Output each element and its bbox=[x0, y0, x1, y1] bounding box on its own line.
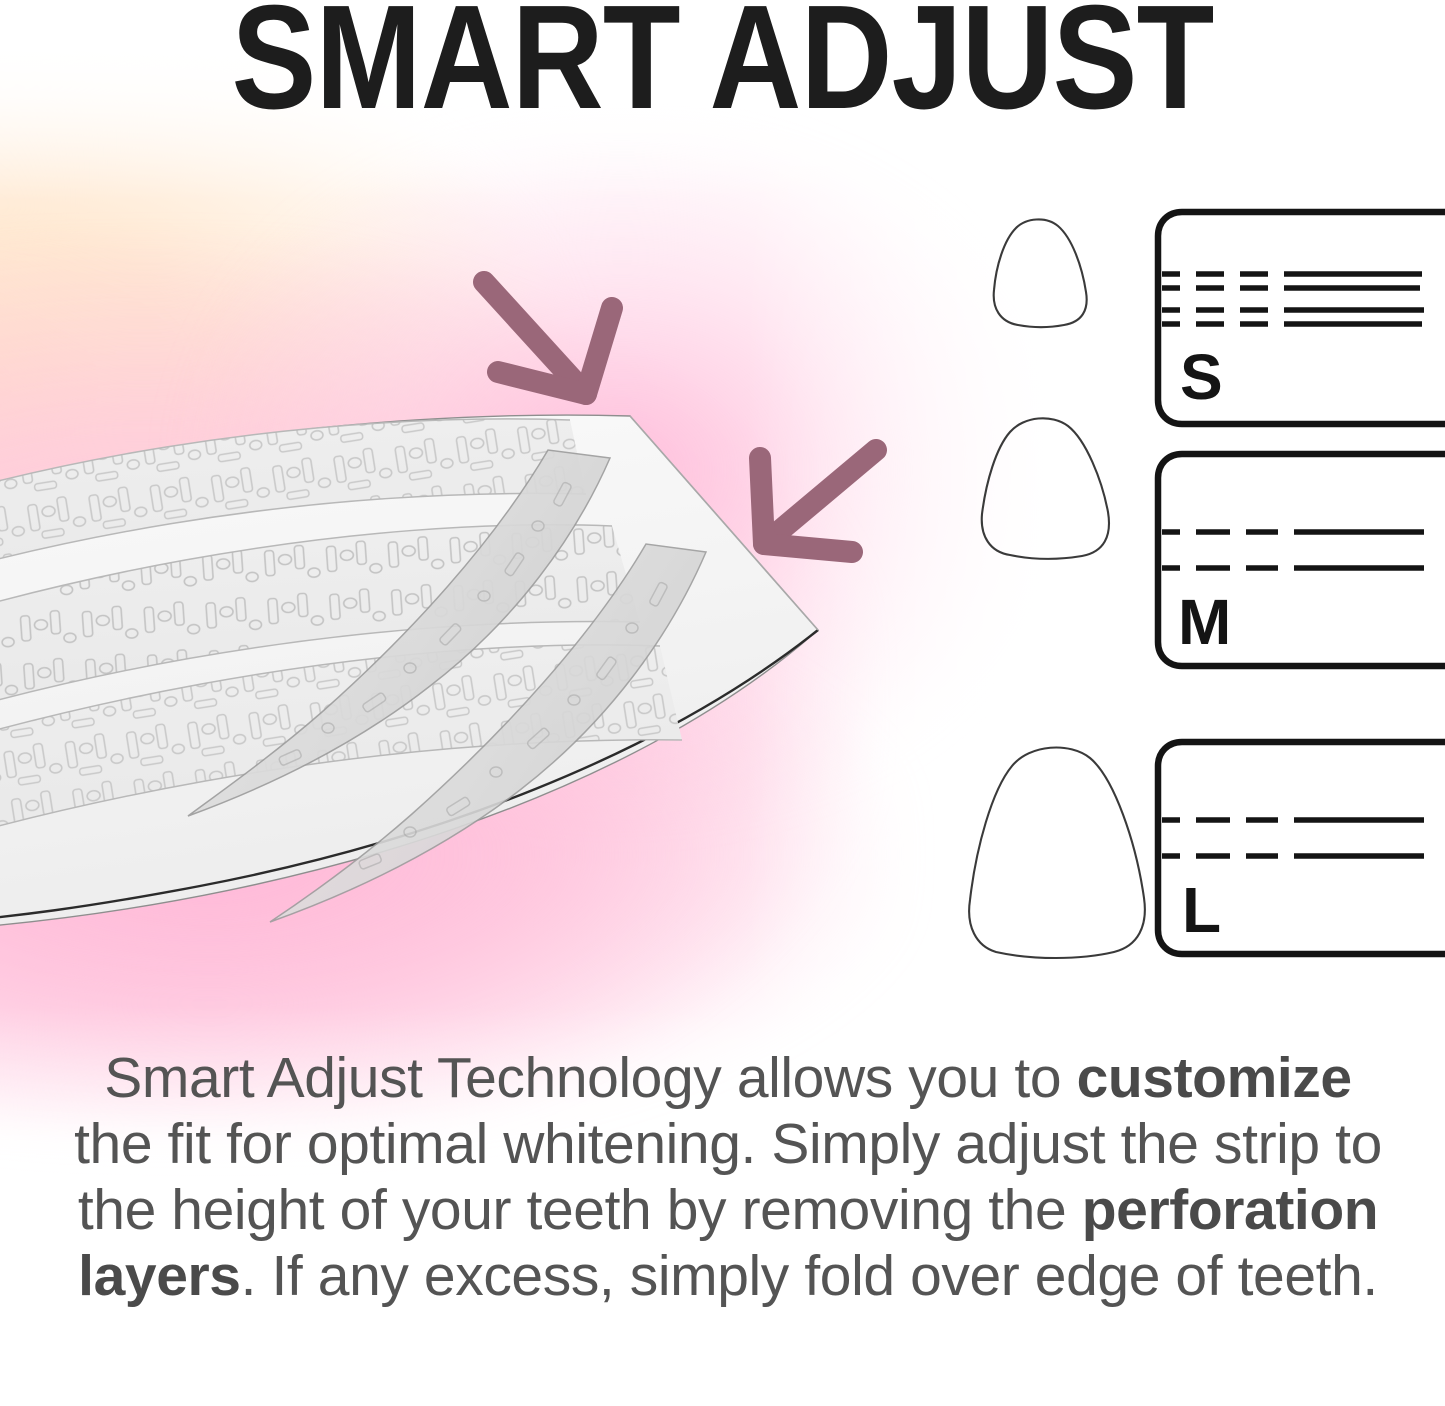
caption-bold-customize: customize bbox=[1077, 1046, 1352, 1110]
caption-paragraph: Smart Adjust Technology allows you to cu… bbox=[68, 1045, 1388, 1309]
whitening-strip-illustration bbox=[0, 330, 880, 950]
size-chart: S M L bbox=[930, 200, 1445, 990]
size-label-m: M bbox=[1178, 590, 1231, 654]
size-label-s: S bbox=[1180, 345, 1223, 409]
promo-graphic: SMART ADJUST bbox=[0, 0, 1445, 1406]
page-title: SMART ADJUST bbox=[101, 0, 1344, 132]
arrow-down-right-upper-icon bbox=[468, 262, 638, 422]
size-label-l: L bbox=[1182, 878, 1221, 942]
caption-part-1: Smart Adjust Technology allows you to bbox=[104, 1046, 1076, 1110]
arrow-down-left-lower-icon bbox=[740, 432, 890, 572]
caption-part-3: . If any excess, simply fold over edge o… bbox=[241, 1244, 1378, 1308]
